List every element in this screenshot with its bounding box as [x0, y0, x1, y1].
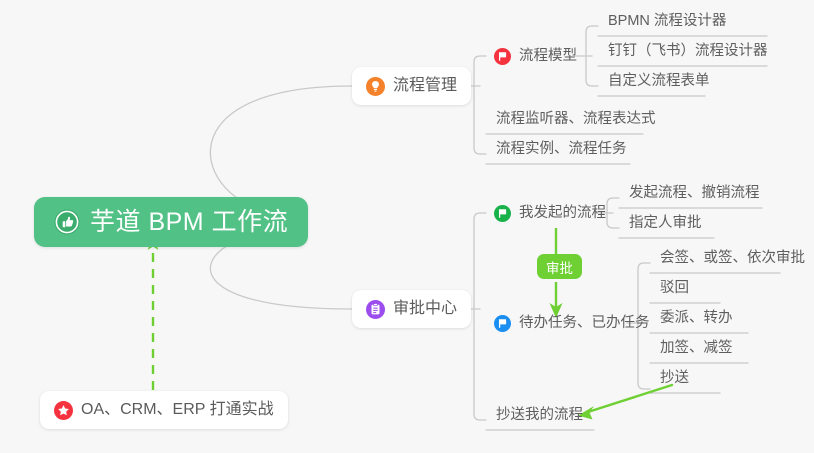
- node-start-cancel-process[interactable]: 发起流程、撤销流程: [619, 178, 770, 208]
- bracket-approval-center: [474, 213, 486, 420]
- thumbs-up-icon: [54, 209, 80, 235]
- node-label: 流程实例、流程任务: [496, 142, 627, 157]
- branch-label: 审批中心: [393, 301, 457, 317]
- root-label: 芋道 BPM 工作流: [90, 210, 288, 235]
- node-label: 待办任务、已办任务: [519, 316, 650, 331]
- flag-icon: [494, 48, 511, 65]
- lightbulb-icon: [366, 77, 385, 96]
- bottom-note-card[interactable]: OA、CRM、ERP 打通实战: [40, 391, 288, 429]
- flag-icon: [494, 315, 511, 332]
- node-cc-to-me-process[interactable]: 抄送我的流程: [486, 400, 593, 430]
- link-root-to-process-management: [210, 86, 352, 212]
- bracket-process-management: [474, 56, 486, 154]
- node-label: 加签、减签: [660, 341, 733, 356]
- node-label: 自定义流程表单: [608, 74, 710, 89]
- node-label: 抄送: [660, 371, 689, 386]
- root-node[interactable]: 芋道 BPM 工作流: [34, 197, 308, 247]
- node-my-started-process[interactable]: 我发起的流程: [486, 198, 616, 228]
- node-delegate-transfer[interactable]: 委派、转办: [650, 303, 743, 333]
- node-process-listener-expression[interactable]: 流程监听器、流程表达式: [486, 104, 666, 134]
- bottom-note-label: OA、CRM、ERP 打通实战: [81, 402, 274, 418]
- node-reject[interactable]: 驳回: [650, 273, 699, 303]
- node-process-model[interactable]: 流程模型: [486, 41, 587, 71]
- flag-icon: [494, 205, 511, 222]
- node-label: 指定人审批: [629, 216, 702, 231]
- branch-process-management[interactable]: 流程管理: [352, 67, 471, 105]
- node-add-remove-sign[interactable]: 加签、减签: [650, 333, 743, 363]
- node-label: 钉钉（飞书）流程设计器: [608, 44, 768, 59]
- node-bpmn-designer[interactable]: BPMN 流程设计器: [598, 6, 736, 36]
- node-todo-done-tasks[interactable]: 待办任务、已办任务: [486, 308, 660, 338]
- branch-label: 流程管理: [393, 78, 457, 94]
- node-label: 会签、或签、依次审批: [660, 251, 805, 266]
- star-icon: [54, 401, 73, 420]
- node-cc[interactable]: 抄送: [650, 363, 699, 393]
- node-dingtalk-feishu-designer[interactable]: 钉钉（飞书）流程设计器: [598, 36, 778, 66]
- node-label: 我发起的流程: [519, 206, 606, 221]
- bracket-process-model: [586, 26, 598, 86]
- node-countersign-modes[interactable]: 会签、或签、依次审批: [650, 243, 814, 273]
- node-label: 委派、转办: [660, 311, 733, 326]
- approve-chip[interactable]: 审批: [537, 254, 582, 279]
- node-label: 流程模型: [519, 49, 577, 64]
- node-label: BPMN 流程设计器: [608, 14, 726, 29]
- node-label: 发起流程、撤销流程: [629, 186, 760, 201]
- node-label: 驳回: [660, 281, 689, 296]
- node-assigned-approver[interactable]: 指定人审批: [619, 208, 712, 238]
- branch-approval-center[interactable]: 审批中心: [352, 290, 471, 328]
- node-label: 抄送我的流程: [496, 408, 583, 423]
- clipboard-icon: [366, 300, 385, 319]
- node-custom-process-form[interactable]: 自定义流程表单: [598, 66, 720, 96]
- mindmap-canvas: 芋道 BPM 工作流 流程管理 流程模型 BPMN 流程设计器 钉钉（飞书）流程…: [0, 0, 814, 453]
- arrow-bottom-note-to-root: [148, 238, 159, 390]
- node-label: 流程监听器、流程表达式: [496, 112, 656, 127]
- node-process-instance-task[interactable]: 流程实例、流程任务: [486, 134, 637, 164]
